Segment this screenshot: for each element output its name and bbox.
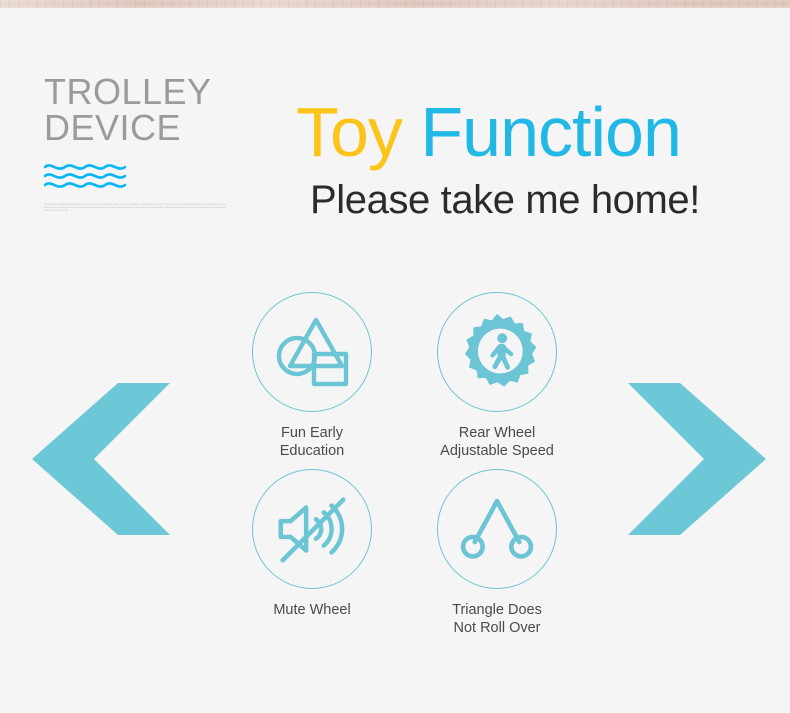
mute-speaker-icon	[269, 486, 355, 572]
feature-label: Mute Wheel	[219, 601, 405, 619]
feature-icon-badge	[252, 292, 372, 412]
feature-item-rear-wheel-adjustable-speed[interactable]: Rear Wheel Adjustable Speed	[404, 292, 590, 460]
brand-logo: TROLLEY DEVICE ELKDFJASDGJAKSDFHKAOEIWGF…	[44, 74, 274, 214]
feature-icon-badge	[437, 292, 557, 412]
title-word-toy: Toy	[296, 93, 402, 171]
feature-item-triangle-does-not-roll-over[interactable]: Triangle Does Not Roll Over	[404, 469, 590, 637]
waves-icon	[44, 162, 126, 190]
chevron-left-icon	[32, 383, 170, 535]
wood-grain-overlay	[0, 0, 790, 8]
feature-item-mute-wheel[interactable]: Mute Wheel	[219, 469, 405, 619]
feature-label: Fun Early Education	[219, 424, 405, 460]
brand-name: TROLLEY DEVICE	[44, 74, 274, 146]
page-subtitle: Please take me home!	[310, 176, 716, 224]
shapes-icon	[270, 310, 354, 394]
feature-icon-badge	[252, 469, 372, 589]
feature-label: Triangle Does Not Roll Over	[404, 601, 590, 637]
feature-item-fun-early-education[interactable]: Fun Early Education	[219, 292, 405, 460]
gear-walking-person-icon	[457, 312, 537, 392]
wood-texture-strip	[0, 0, 790, 8]
headline-block: Toy Function Please take me home!	[296, 94, 716, 224]
next-arrow[interactable]	[628, 383, 766, 535]
feature-icon-badge	[437, 469, 557, 589]
chevron-right-icon	[628, 383, 766, 535]
triangle-wheels-icon	[458, 490, 536, 568]
title-word-function: Function	[420, 93, 680, 171]
brand-fineprint: ELKDFJASDGJAKSDFHKAOEIWGFDLJGKW SDHVBAUI…	[44, 204, 226, 214]
previous-arrow[interactable]	[32, 383, 170, 535]
page-title: Toy Function	[296, 94, 716, 170]
feature-list: Fun Early Education Rear Wheel Adjustabl…	[214, 292, 586, 644]
feature-label: Rear Wheel Adjustable Speed	[404, 424, 590, 460]
